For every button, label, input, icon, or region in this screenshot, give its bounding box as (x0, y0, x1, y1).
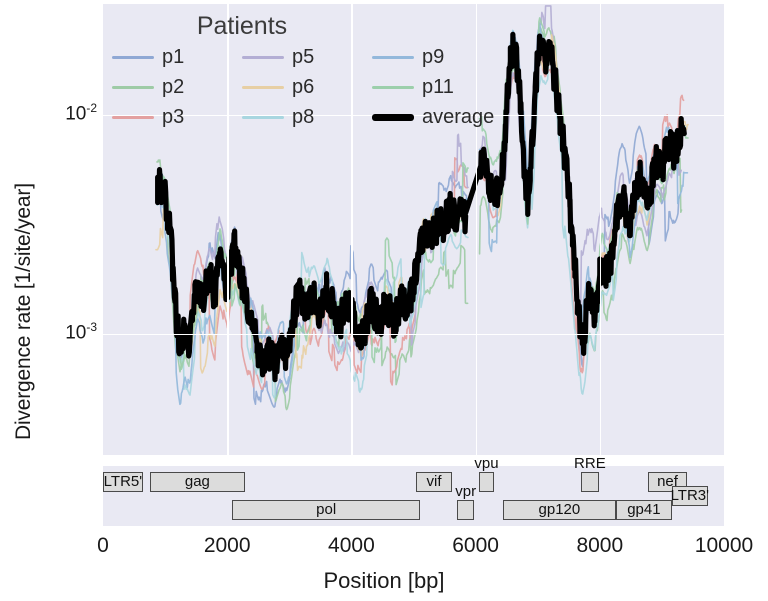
x-axis-tick-label: 10000 (695, 534, 753, 558)
legend-entry-p9[interactable]: p9 (372, 47, 444, 67)
legend-entry-p2[interactable]: p2 (112, 77, 184, 97)
legend-label: average (422, 107, 494, 127)
legend-label: p8 (292, 107, 314, 127)
legend-label: p9 (422, 47, 444, 67)
y-axis-label-wrap: Divergence rate [1/site/year] (16, 400, 17, 401)
legend-swatch-icon (112, 56, 154, 59)
legend-entry-p8[interactable]: p8 (242, 107, 314, 127)
legend-entries: p1p2p3p5p6p8p9p11average (112, 47, 492, 135)
legend-entry-p3[interactable]: p3 (112, 107, 184, 127)
legend-swatch-icon (112, 86, 154, 89)
legend-swatch-icon (242, 56, 284, 59)
gene-label-LTR3: LTR3' (671, 488, 709, 504)
legend-label: p3 (162, 107, 184, 127)
legend-swatch-icon (242, 86, 284, 89)
figure-root: Divergence rate [1/site/year] 10-310-2 0… (0, 0, 768, 601)
gridline-vertical (600, 4, 602, 455)
gene-label-LTR5: LTR5' (104, 474, 142, 490)
x-axis-tick-label: 8000 (576, 534, 623, 558)
x-axis-label: Position [bp] (0, 568, 768, 594)
y-axis-label: Divergence rate [1/site/year] (12, 100, 36, 440)
legend-title: Patients (112, 12, 372, 41)
legend-label: p1 (162, 47, 184, 67)
legend-swatch-icon (372, 114, 414, 121)
gene-feature-vpu[interactable] (479, 472, 495, 492)
legend-label: p5 (292, 47, 314, 67)
gene-label-gp120: gp120 (539, 502, 581, 518)
y-axis-tick-label: 10-2 (65, 101, 97, 125)
gene-label-RRE: RRE (574, 455, 606, 472)
legend-entry-p11[interactable]: p11 (372, 77, 454, 97)
legend-label: p6 (292, 77, 314, 97)
legend-entry-p1[interactable]: p1 (112, 47, 184, 67)
gene-feature-vpr[interactable] (457, 500, 474, 520)
legend-entry-p5[interactable]: p5 (242, 47, 314, 67)
gene-label-vpu: vpu (474, 455, 498, 472)
x-axis-tick-label: 2000 (204, 534, 251, 558)
x-axis-tick-label: 0 (97, 534, 109, 558)
gene-label-gag: gag (185, 474, 210, 490)
genome-annotation-track: LTR5'gagpolvifvprvpugp120gp41RREnefLTR3' (103, 466, 724, 526)
gene-feature-RRE[interactable] (581, 472, 598, 492)
x-axis-tick-label: 4000 (328, 534, 375, 558)
y-axis-tick-label: 10-3 (65, 320, 97, 344)
gene-label-vif: vif (427, 474, 442, 490)
legend-swatch-icon (372, 56, 414, 59)
legend: Patients p1p2p3p5p6p8p9p11average (112, 12, 492, 135)
gene-label-vpr: vpr (455, 483, 476, 500)
gene-label-gp41: gp41 (627, 502, 660, 518)
x-axis-tick-label: 6000 (452, 534, 499, 558)
legend-swatch-icon (372, 86, 414, 89)
legend-label: p11 (422, 77, 454, 97)
legend-entry-average[interactable]: average (372, 107, 494, 127)
gene-label-pol: pol (316, 502, 336, 518)
legend-label: p2 (162, 77, 184, 97)
gridline-horizontal (103, 334, 724, 336)
legend-swatch-icon (112, 116, 154, 119)
legend-entry-p6[interactable]: p6 (242, 77, 314, 97)
legend-swatch-icon (242, 116, 284, 119)
